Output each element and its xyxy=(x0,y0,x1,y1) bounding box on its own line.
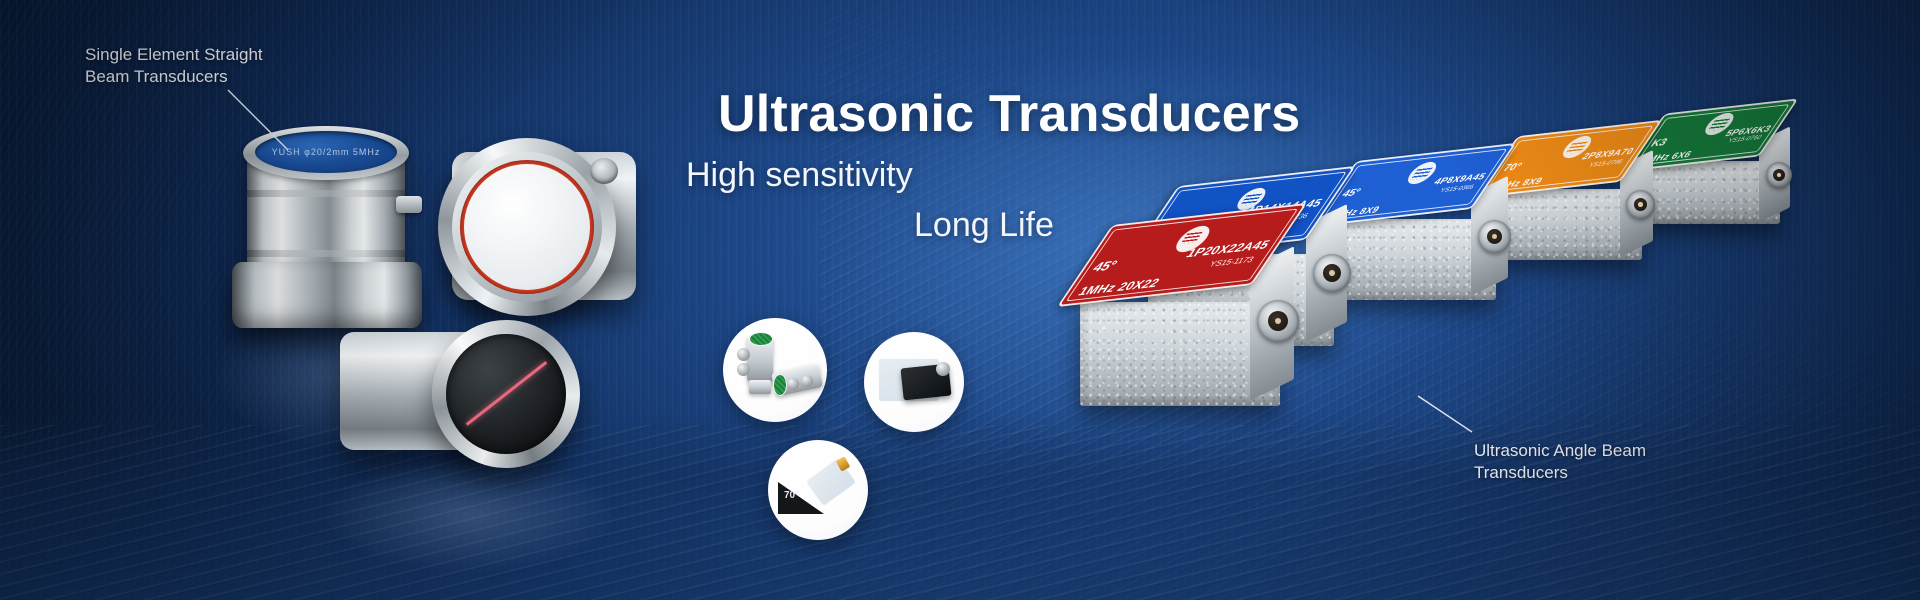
ultrasonic-transducers-banner: YUSH φ20/2mm 5MHz xyxy=(0,0,1920,600)
background-vignette xyxy=(0,0,1920,600)
